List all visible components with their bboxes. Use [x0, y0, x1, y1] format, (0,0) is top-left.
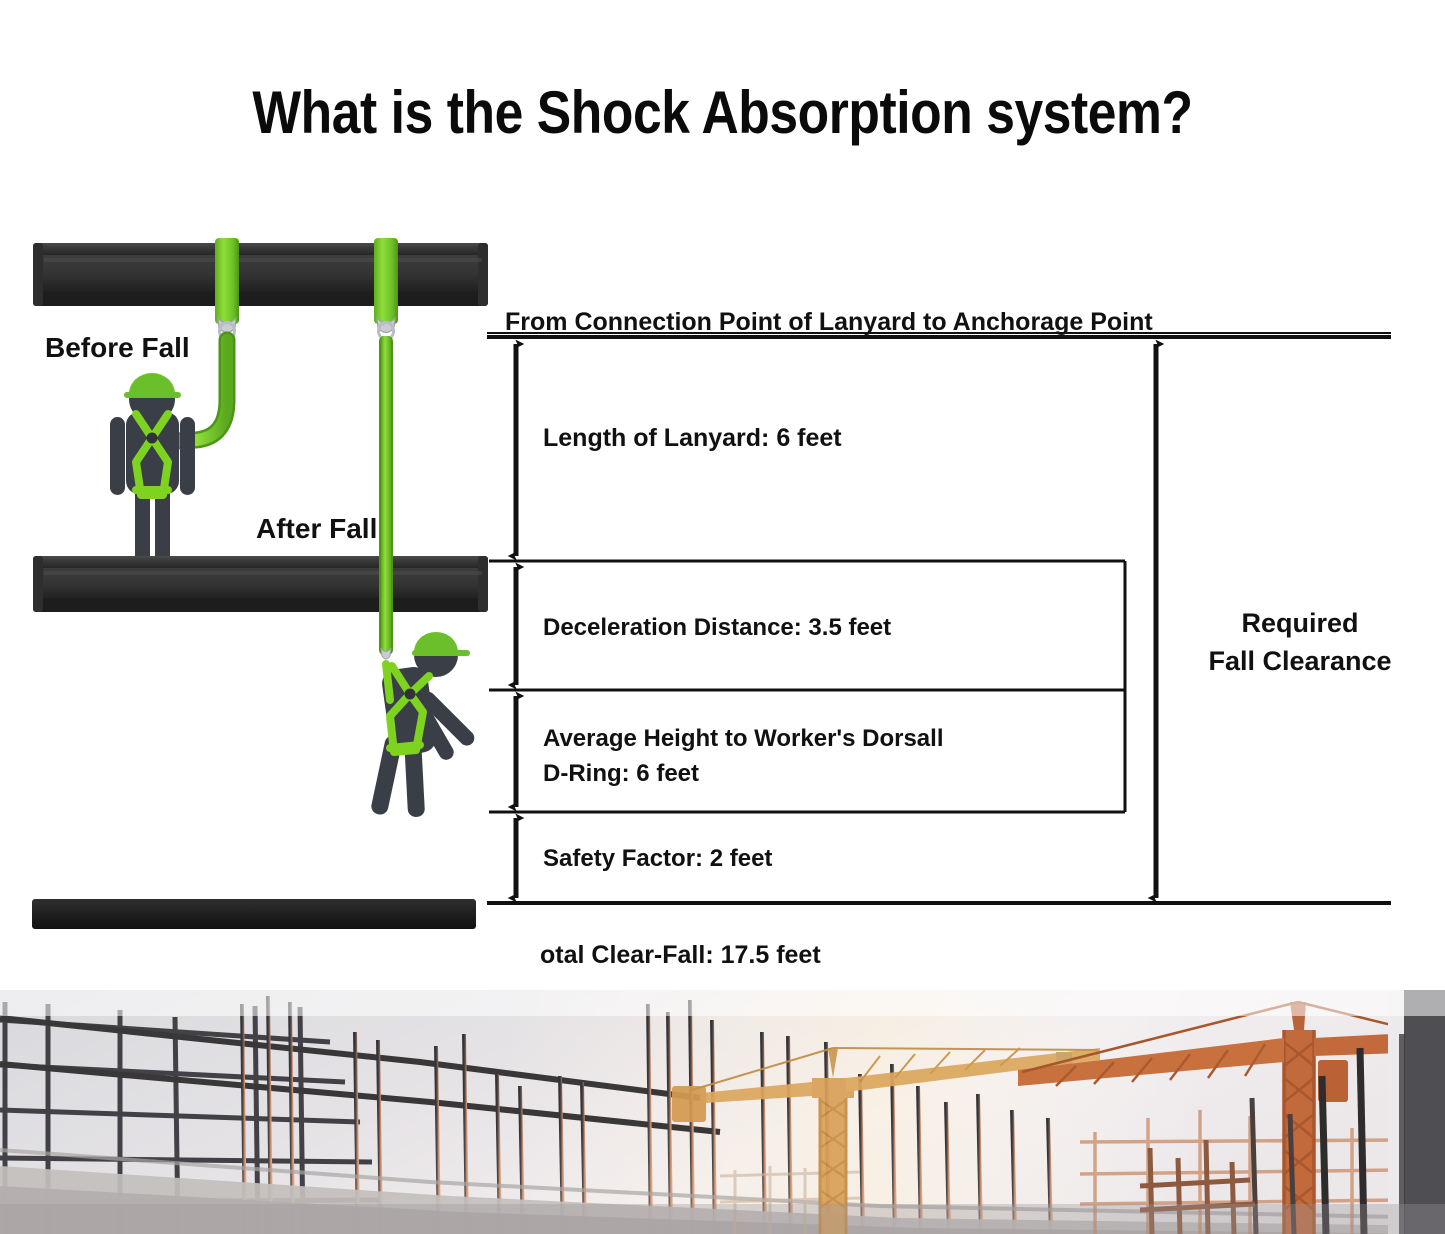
ground-bar	[32, 899, 476, 929]
label-before-fall: Before Fall	[45, 332, 190, 364]
middle-i-beam	[33, 556, 488, 612]
label-dring-height: Average Height to Worker's Dorsall D-Rin…	[543, 721, 944, 791]
anchor-strap-left	[215, 238, 239, 340]
label-safety-factor: Safety Factor: 2 feet	[543, 845, 772, 873]
label-after-fall: After Fall	[256, 513, 377, 545]
infographic-page: What is the Shock Absorption system?	[0, 0, 1445, 1234]
worker-after-fall	[370, 632, 478, 817]
label-length-of-lanyard: Length of Lanyard: 6 feet	[543, 424, 842, 453]
construction-site-photo	[0, 990, 1445, 1234]
label-total-clear-fall: otal Clear-Fall: 17.5 feet	[540, 941, 821, 970]
label-required-clearance: Required Fall Clearance	[1175, 604, 1425, 680]
label-deceleration: Deceleration Distance: 3.5 feet	[543, 614, 891, 642]
top-i-beam	[33, 243, 488, 306]
worker-before-fall	[110, 373, 195, 572]
anchor-strap-right	[374, 238, 398, 340]
label-anchorage-span: From Connection Point of Lanyard to Anch…	[505, 308, 1153, 337]
fall-clearance-diagram	[0, 0, 1445, 990]
